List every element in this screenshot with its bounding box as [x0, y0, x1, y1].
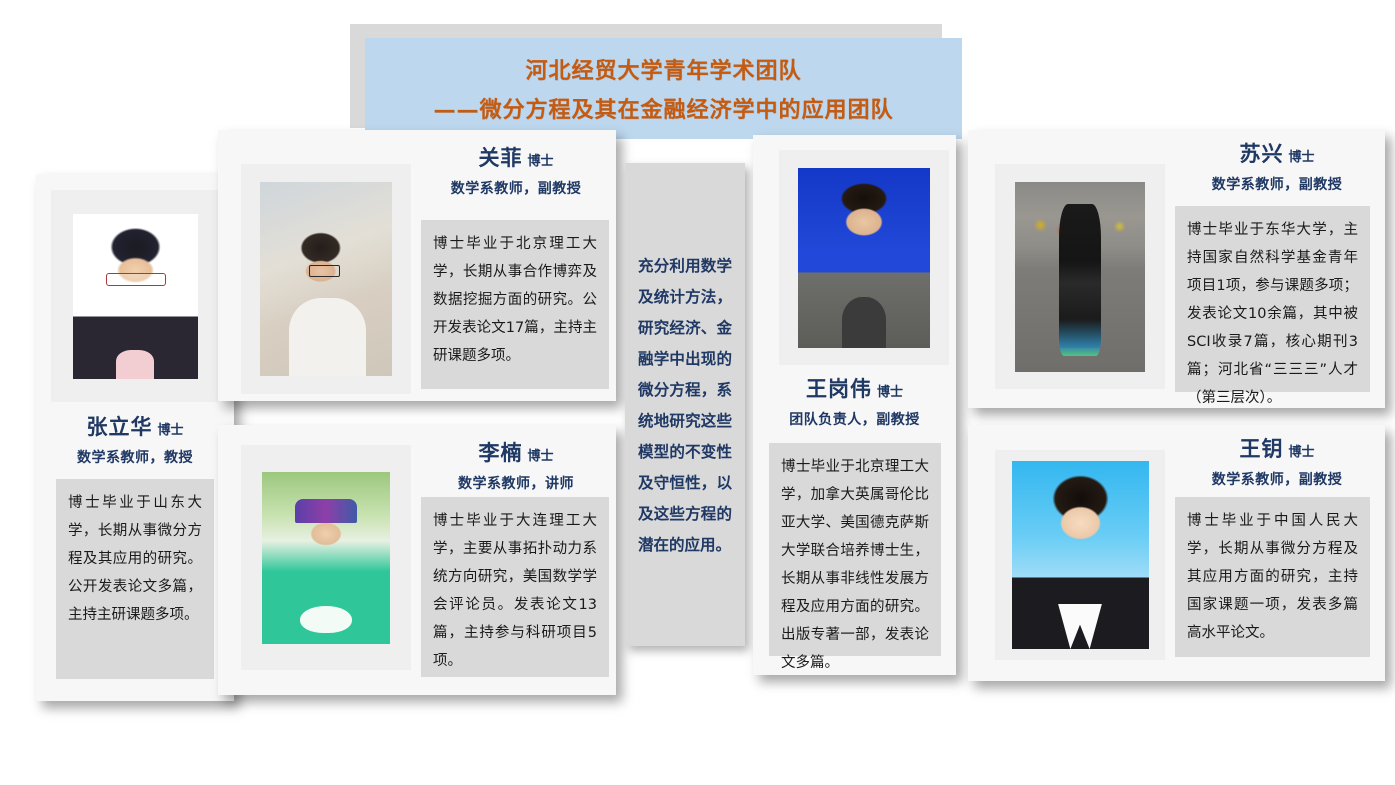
- member-card-wang-gangwei[interactable]: 王岗伟博士 团队负责人，副教授 博士毕业于北京理工大学，加拿大英属哥伦比亚大学、…: [753, 135, 956, 675]
- member-name-su-xing: 苏兴: [1239, 141, 1283, 166]
- member-degree-zhang-lihua: 博士: [157, 423, 183, 438]
- member-photo-wang-gangwei: [798, 168, 930, 348]
- member-card-li-nan[interactable]: 李楠博士 数学系教师，讲师 博士毕业于大连理工大学，主要从事拓扑动力系统方向研究…: [218, 425, 616, 695]
- member-photo-frame-guan-fei: [241, 164, 411, 394]
- member-description-zhang-lihua: 博士毕业于山东大学，长期从事微分方程及其应用的研究。公开发表论文多篇，主持主研课…: [56, 479, 214, 679]
- member-degree-li-nan: 博士: [527, 449, 553, 464]
- member-degree-wang-yue: 博士: [1288, 445, 1314, 460]
- member-photo-frame-wang-yue: [995, 450, 1165, 660]
- team-mission-panel: 充分利用数学及统计方法，研究经济、金融学中出现的微分方程，系统地研究这些模型的不…: [625, 163, 745, 646]
- member-photo-frame-zhang-lihua: [51, 190, 219, 402]
- member-name-wang-yue: 王钥: [1239, 436, 1283, 461]
- member-role-wang-gangwei: 团队负责人，副教授: [753, 409, 956, 429]
- member-photo-frame-li-nan: [241, 445, 411, 670]
- member-name-block-wang-yue: 王钥博士 数学系教师，副教授: [1173, 433, 1381, 489]
- member-name-block-guan-fei: 关菲博士 数学系教师，副教授: [418, 142, 614, 198]
- member-name-block-wang-gangwei: 王岗伟博士 团队负责人，副教授: [753, 373, 956, 429]
- member-degree-wang-gangwei: 博士: [877, 385, 903, 400]
- member-card-su-xing[interactable]: 苏兴博士 数学系教师，副教授 博士毕业于东华大学，主持国家自然科学基金青年项目1…: [968, 130, 1385, 408]
- member-description-su-xing: 博士毕业于东华大学，主持国家自然科学基金青年项目1项，参与课题多项；发表论文10…: [1175, 206, 1370, 392]
- member-name-block-su-xing: 苏兴博士 数学系教师，副教授: [1173, 138, 1381, 194]
- member-role-su-xing: 数学系教师，副教授: [1173, 174, 1381, 194]
- member-name-wang-gangwei: 王岗伟: [806, 376, 872, 401]
- member-description-wang-yue: 博士毕业于中国人民大学，长期从事微分方程及其应用方面的研究，主持国家课题一项，发…: [1175, 497, 1370, 657]
- member-photo-zhang-lihua: [73, 214, 198, 379]
- title-line-2: ——微分方程及其在金融经济学中的应用团队: [433, 92, 893, 124]
- member-degree-su-xing: 博士: [1288, 150, 1314, 165]
- member-degree-guan-fei: 博士: [527, 154, 553, 169]
- title-banner: 河北经贸大学青年学术团队 ——微分方程及其在金融经济学中的应用团队: [365, 38, 962, 139]
- member-photo-guan-fei: [260, 182, 392, 376]
- member-name-block-li-nan: 李楠博士 数学系教师，讲师: [418, 437, 614, 493]
- member-role-wang-yue: 数学系教师，副教授: [1173, 469, 1381, 489]
- member-card-wang-yue[interactable]: 王钥博士 数学系教师，副教授 博士毕业于中国人民大学，长期从事微分方程及其应用方…: [968, 425, 1385, 681]
- member-role-zhang-lihua: 数学系教师，教授: [36, 447, 234, 467]
- member-photo-wang-yue: [1012, 461, 1149, 649]
- member-card-zhang-lihua[interactable]: 张立华博士 数学系教师，教授 博士毕业于山东大学，长期从事微分方程及其应用的研究…: [36, 174, 234, 701]
- member-photo-frame-su-xing: [995, 164, 1165, 389]
- member-name-li-nan: 李楠: [478, 440, 522, 465]
- member-photo-frame-wang-gangwei: [779, 150, 949, 365]
- team-mission-text: 充分利用数学及统计方法，研究经济、金融学中出现的微分方程，系统地研究这些模型的不…: [625, 250, 745, 560]
- member-card-guan-fei[interactable]: 关菲博士 数学系教师，副教授 博士毕业于北京理工大学，长期从事合作博弈及数据挖掘…: [218, 130, 616, 401]
- member-description-li-nan: 博士毕业于大连理工大学，主要从事拓扑动力系统方向研究，美国数学学会评论员。发表论…: [421, 497, 609, 677]
- member-name-block-zhang-lihua: 张立华博士 数学系教师，教授: [36, 411, 234, 467]
- member-name-zhang-lihua: 张立华: [86, 414, 152, 439]
- member-name-guan-fei: 关菲: [478, 145, 522, 170]
- member-photo-su-xing: [1015, 182, 1145, 372]
- member-description-wang-gangwei: 博士毕业于北京理工大学，加拿大英属哥伦比亚大学、美国德克萨斯大学联合培养博士生，…: [769, 443, 941, 656]
- member-role-li-nan: 数学系教师，讲师: [418, 473, 614, 493]
- title-line-1: 河北经贸大学青年学术团队: [525, 53, 801, 85]
- member-photo-li-nan: [262, 472, 390, 644]
- member-description-guan-fei: 博士毕业于北京理工大学，长期从事合作博弈及数据挖掘方面的研究。公开发表论文17篇…: [421, 220, 609, 389]
- member-role-guan-fei: 数学系教师，副教授: [418, 178, 614, 198]
